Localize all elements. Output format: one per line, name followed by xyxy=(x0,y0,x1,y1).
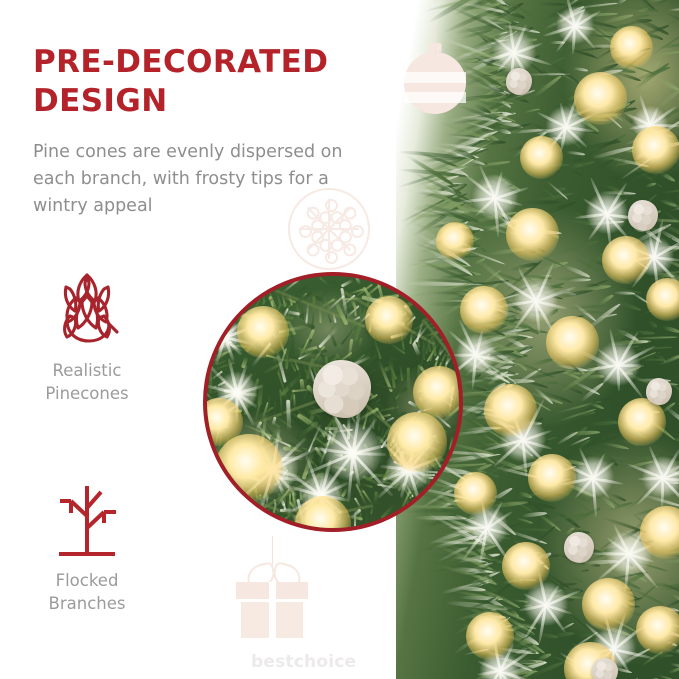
page-title: PRE-DECORATED DESIGN xyxy=(33,43,373,121)
feature-label-flocked: Flocked Branches xyxy=(12,569,162,615)
headline-line-1: PRE-DECORATED xyxy=(33,44,328,80)
feature-label-pinecones: Realistic Pinecones xyxy=(12,359,162,405)
magnified-pinecone xyxy=(313,360,371,418)
feature-label-line-1: Realistic xyxy=(53,361,122,380)
feature-realistic-pinecones: Realistic Pinecones xyxy=(12,268,162,405)
headline-line-2: DESIGN xyxy=(33,83,168,119)
feature-label-line-1: Flocked xyxy=(56,571,119,590)
magnified-detail-circle xyxy=(203,272,463,532)
feature-label-line-2: Pinecones xyxy=(45,384,128,403)
feature-flocked-branches: Flocked Branches xyxy=(12,478,162,615)
description-text: Pine cones are evenly dispersed on each … xyxy=(33,139,365,220)
brand-watermark-text: bestchoice xyxy=(251,652,356,672)
pinecone-icon xyxy=(46,268,128,348)
product-feature-card: bestchoice PRE-DECORATED DESIGN Pine con… xyxy=(0,0,679,679)
bare-tree-icon xyxy=(46,478,128,558)
feature-label-line-2: Branches xyxy=(49,594,126,613)
